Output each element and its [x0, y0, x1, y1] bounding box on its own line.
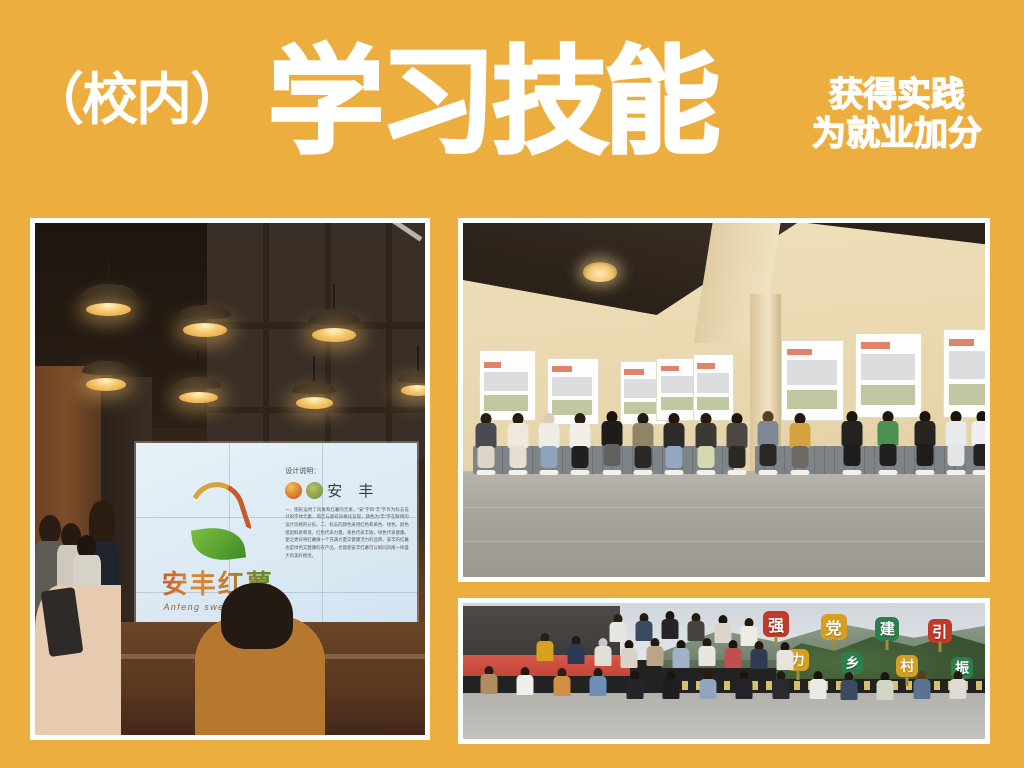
hall-floor	[463, 471, 985, 577]
group-person-figure	[479, 666, 499, 702]
group-person-figure	[661, 611, 679, 641]
student-figure	[755, 411, 781, 471]
photo-students-hall-content	[463, 223, 985, 577]
student-figure	[943, 411, 969, 471]
student-figure	[599, 411, 625, 471]
design-poster	[855, 333, 923, 418]
design-spec-heading-row: 安 丰	[285, 480, 409, 501]
page-title: 学习技能	[268, 44, 716, 160]
student-figure	[536, 413, 562, 471]
group-person-figure	[750, 641, 768, 673]
student-figure	[875, 411, 901, 471]
group-person-figure	[567, 636, 585, 668]
pendant-lamp-icon	[308, 310, 360, 336]
group-person-figure	[724, 640, 742, 672]
group-person-figure	[912, 671, 932, 707]
group-person-figure	[552, 668, 572, 704]
slogan-character: 建	[875, 617, 899, 641]
student-figure	[505, 413, 531, 471]
design-spec-title: 设计说明：	[285, 466, 409, 476]
student-figure	[693, 413, 719, 471]
group-person-figure	[646, 638, 664, 670]
student-figure	[724, 413, 750, 471]
photo-presentation-content: 安丰红薯 Anfeng sweet potato 设计说明： 安 丰 一、图形运…	[35, 223, 425, 735]
pendant-lamp-icon	[179, 305, 231, 331]
yellow-fence	[682, 681, 985, 691]
slogan-character: 引	[928, 619, 952, 643]
design-poster	[479, 350, 536, 421]
student-figure	[661, 413, 687, 471]
design-spec-heading: 安 丰	[327, 480, 379, 501]
header-subtitle-line1: 获得实践	[829, 76, 965, 114]
student-figure	[630, 413, 656, 471]
group-person-figure	[620, 640, 638, 672]
sweet-potato-dot-icon	[285, 482, 302, 499]
group-person-figure	[672, 640, 690, 672]
group-person-figure	[875, 672, 895, 708]
group-person-figure	[776, 642, 794, 674]
pendant-lamp-icon	[175, 377, 221, 399]
foreground-audience-head	[221, 583, 293, 649]
pendant-lamp-icon	[292, 382, 336, 404]
design-spec-body: 一、图形运用了风尾和红薯的元素，“安”字和“丰”字作为标志设计的字体元素，简洁与…	[285, 506, 409, 560]
group-person-figure	[661, 671, 681, 707]
student-figure	[969, 411, 985, 471]
photo-students-hall	[458, 218, 990, 582]
group-person-figure	[698, 638, 716, 670]
student-figure	[473, 413, 499, 471]
student-figure	[912, 411, 938, 471]
group-person-figure	[698, 671, 718, 707]
sweet-potato-logo-icon	[182, 482, 254, 557]
design-poster	[781, 340, 844, 421]
student-figure	[567, 413, 593, 471]
group-person-figure	[536, 633, 554, 665]
pendant-lamp-icon	[82, 361, 130, 385]
pendant-lamp-icon	[398, 371, 425, 391]
leaf-dot-icon	[306, 482, 323, 499]
group-person-figure	[625, 671, 645, 707]
group-person-figure	[515, 667, 535, 703]
header-subtitle-line2: 为就业加分	[792, 115, 1002, 154]
design-poster	[693, 354, 735, 421]
header-prefix: （校内）	[28, 72, 244, 128]
student-figure	[787, 413, 813, 471]
group-person-figure	[808, 671, 828, 707]
header-subtitle: 获得实践 为就业加分	[792, 76, 1002, 155]
group-person-figure	[771, 671, 791, 707]
slogan-character: 强	[763, 611, 789, 637]
slogan-character: 党	[821, 614, 847, 640]
group-person-figure	[734, 671, 754, 707]
photo-group-outdoor-content: 强 党 建 引 力 乡 村 振	[463, 603, 985, 739]
group-person-figure	[594, 638, 612, 670]
plaza-ground	[463, 693, 985, 739]
presenter-figure	[89, 501, 115, 543]
pendant-lamp-icon	[82, 284, 136, 310]
photo-presentation: 安丰红薯 Anfeng sweet potato 设计说明： 安 丰 一、图形运…	[30, 218, 430, 740]
group-person-figure	[948, 671, 968, 707]
hall-window-grid	[207, 223, 425, 459]
photo-group-outdoor: 强 党 建 引 力 乡 村 振	[458, 598, 990, 744]
design-poster	[943, 329, 985, 418]
student-figure	[839, 411, 865, 471]
slogan-character: 乡	[841, 652, 863, 674]
ceiling-lamp-icon	[583, 262, 617, 282]
group-person-figure	[588, 668, 608, 704]
poster-header: （校内） 学习技能 获得实践 为就业加分	[0, 0, 1024, 200]
group-person-figure	[839, 672, 859, 708]
